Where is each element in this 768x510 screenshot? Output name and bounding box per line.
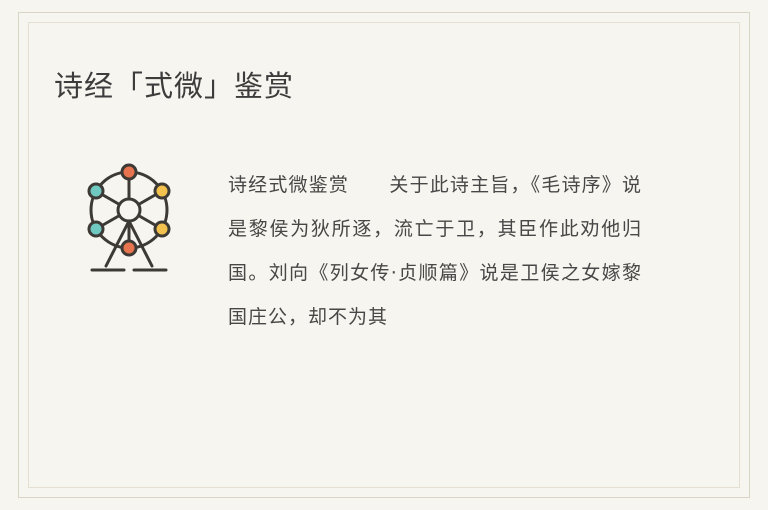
ferris-wheel-icon [72,148,202,288]
article-body: 诗经式微鉴赏 关于此诗主旨，《毛诗序》说是黎侯为狄所逐，流亡于卫，其臣作此劝他归… [228,163,642,339]
page-title: 诗经「式微」鉴赏 [54,66,294,106]
document-page: 诗经「式微」鉴赏 [0,0,768,510]
